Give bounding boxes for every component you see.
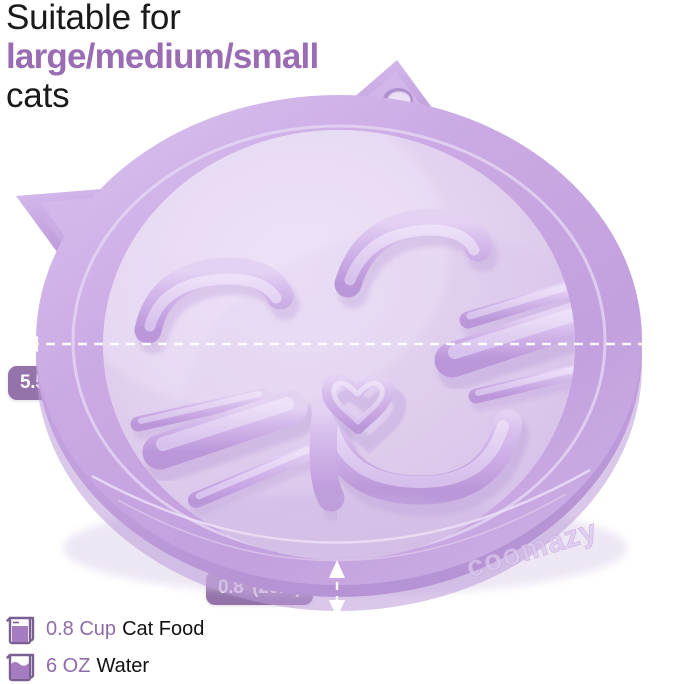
product-image-canvas: coomazy Suitable for large/medium/small … [0, 0, 679, 684]
capacity-legend: 0.8 Cup Cat Food 6 OZ Water [6, 611, 336, 684]
mouth-arc-left [323, 410, 334, 505]
legend-label-water: Water [96, 655, 149, 678]
legend-label-cat-food: Cat Food [122, 618, 204, 641]
measuring-cup-icon [6, 614, 40, 646]
product-illustration: coomazy [0, 0, 679, 684]
measuring-cup-water-icon [6, 651, 40, 683]
legend-amount-cat-food: 0.8 Cup [46, 618, 116, 641]
legend-row-water: 6 OZ Water [6, 648, 336, 684]
legend-amount-water: 6 OZ [46, 655, 90, 678]
legend-row-cat-food: 0.8 Cup Cat Food [6, 611, 336, 648]
